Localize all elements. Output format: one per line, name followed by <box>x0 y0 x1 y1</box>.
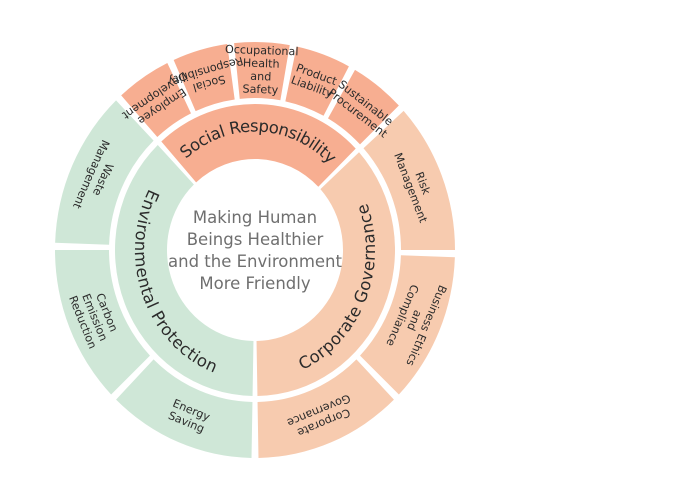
center-text-line: Making Human <box>193 208 317 227</box>
center-text-line: More Friendly <box>199 274 310 293</box>
sunburst-diagram: EmployeeDevelopmentSocialResponsibilityO… <box>0 0 683 490</box>
center-text-line: and the Environment <box>168 252 342 271</box>
center-text-line: Beings Healthier <box>187 230 324 249</box>
inner-ring <box>115 104 395 396</box>
segment-label-line: and <box>250 70 272 84</box>
segment-label-line: Health <box>243 56 280 70</box>
center-text-block: Making HumanBeings Healthierand the Envi… <box>168 208 342 293</box>
sunburst-chart: EmployeeDevelopmentSocialResponsibilityO… <box>0 0 683 490</box>
segment-label-line: Occupational <box>225 43 299 59</box>
segment-label-line: Safety <box>242 82 279 96</box>
